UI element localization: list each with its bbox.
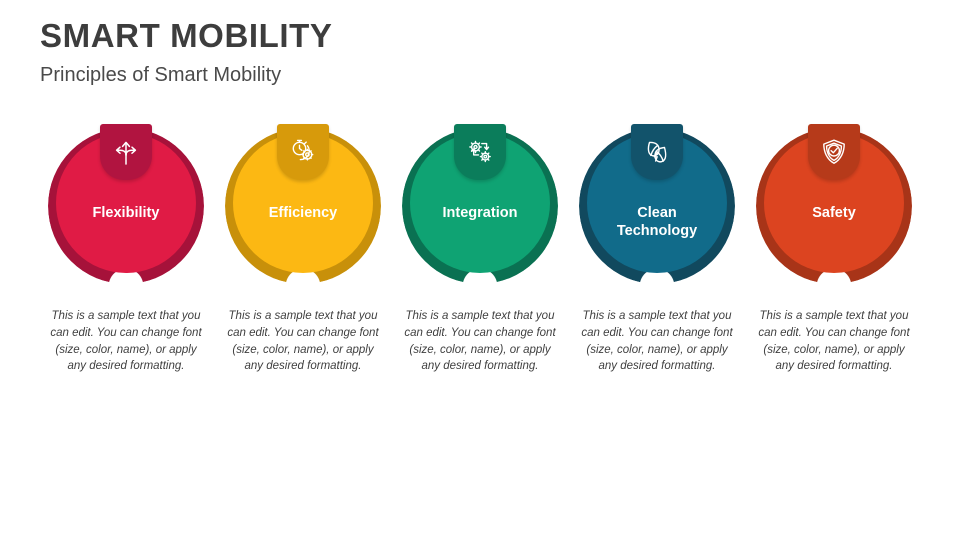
icon-badge[interactable] — [631, 124, 683, 180]
node-label: Efficiency — [225, 204, 381, 222]
principle-description: This is a sample text that you can edit.… — [755, 308, 913, 375]
gears-cycle-icon — [464, 136, 496, 168]
principle-description: This is a sample text that you can edit.… — [401, 308, 559, 375]
circle-node-flexibility[interactable]: Flexibility — [48, 128, 204, 284]
page-subtitle: Principles of Smart Mobility — [40, 62, 640, 88]
principle-description: This is a sample text that you can edit.… — [578, 308, 736, 375]
node-label: Safety — [756, 204, 912, 222]
branching-arrows-icon — [110, 136, 142, 168]
icon-badge[interactable] — [454, 124, 506, 180]
node-label: Integration — [402, 204, 558, 222]
page-title: SMART MOBILITY — [40, 16, 640, 56]
principle-column-safety[interactable]: Safety This is a sample text that you ca… — [748, 128, 920, 418]
leaf-bolt-icon — [641, 136, 673, 168]
stopwatch-gear-icon — [287, 136, 319, 168]
circle-node-integration[interactable]: Integration — [402, 128, 558, 284]
principles-row: Flexibility This is a sample text that y… — [40, 128, 920, 418]
principle-column-clean-technology[interactable]: Clean Technology This is a sample text t… — [571, 128, 743, 418]
icon-badge[interactable] — [808, 124, 860, 180]
slide-canvas: SMART MOBILITY Principles of Smart Mobil… — [0, 0, 960, 540]
principle-column-integration[interactable]: Integration This is a sample text that y… — [394, 128, 566, 418]
circle-node-efficiency[interactable]: Efficiency — [225, 128, 381, 284]
principle-description: This is a sample text that you can edit.… — [224, 308, 382, 375]
shield-check-icon — [818, 136, 850, 168]
node-label: Clean Technology — [579, 204, 735, 240]
node-label: Flexibility — [48, 204, 204, 222]
principle-column-efficiency[interactable]: Efficiency This is a sample text that yo… — [217, 128, 389, 418]
icon-badge[interactable] — [100, 124, 152, 180]
circle-node-safety[interactable]: Safety — [756, 128, 912, 284]
principle-column-flexibility[interactable]: Flexibility This is a sample text that y… — [40, 128, 212, 418]
principle-description: This is a sample text that you can edit.… — [47, 308, 205, 375]
icon-badge[interactable] — [277, 124, 329, 180]
circle-node-clean-technology[interactable]: Clean Technology — [579, 128, 735, 284]
slide-header: SMART MOBILITY Principles of Smart Mobil… — [40, 16, 640, 88]
